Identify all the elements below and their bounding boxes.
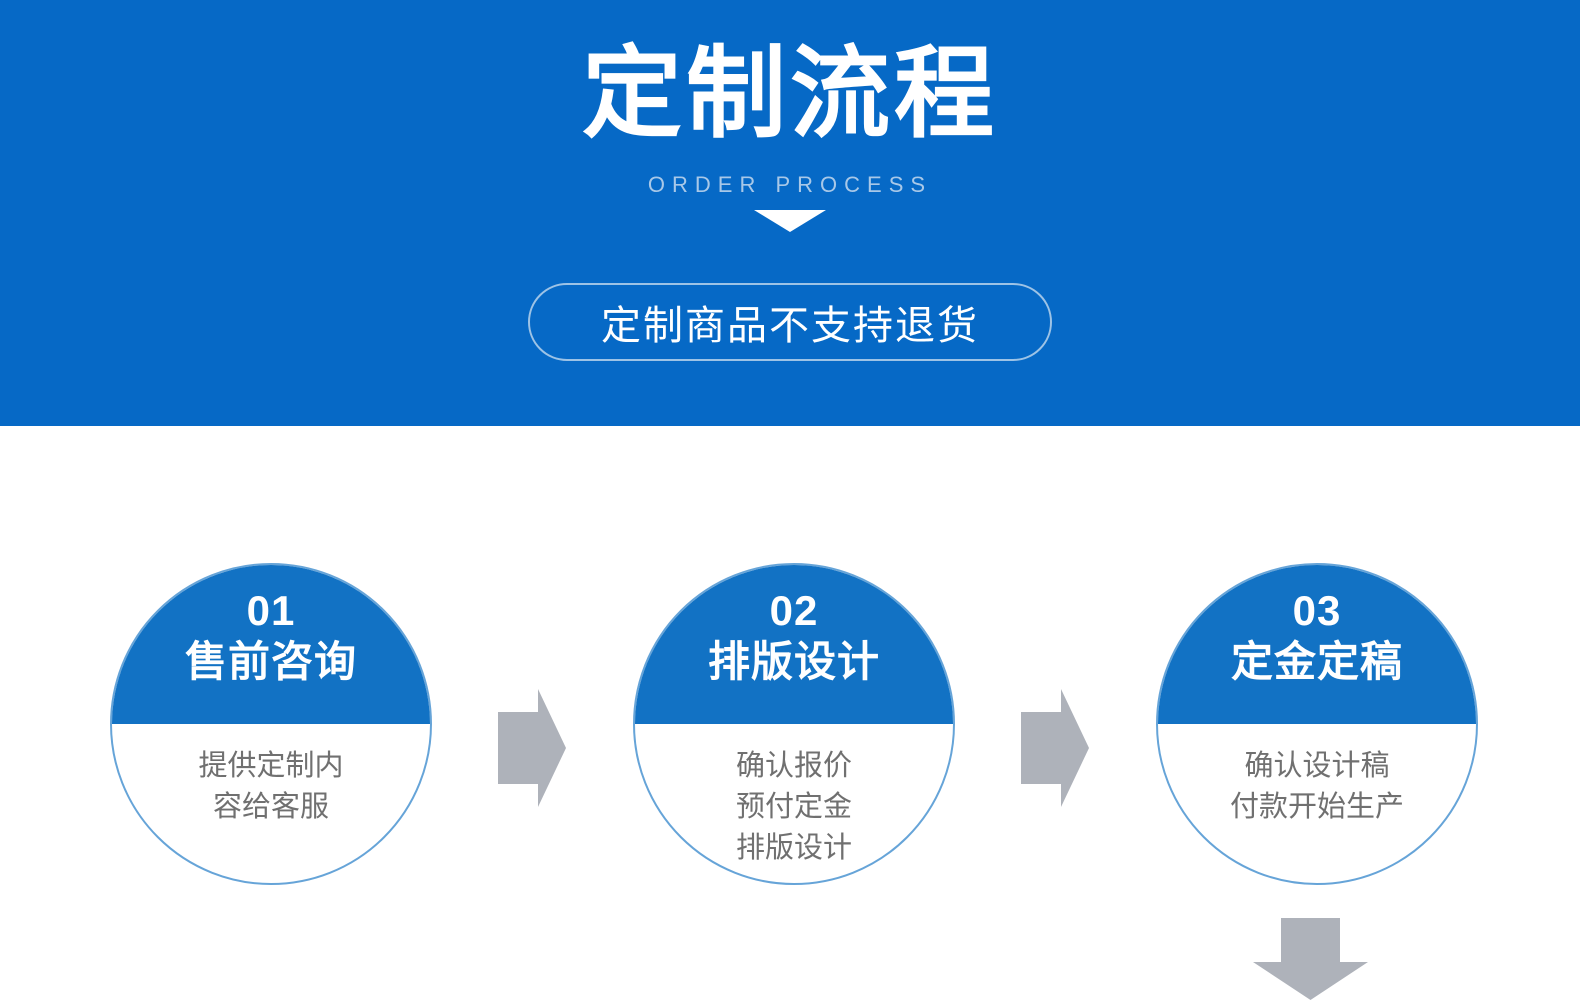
process-step-03-body: 确认设计稿 付款开始生产 <box>1158 724 1476 883</box>
process-step-02-number: 02 <box>770 590 819 632</box>
process-step-01-title: 售前咨询 <box>185 638 357 686</box>
arrow-right-icon <box>1021 689 1089 807</box>
page-title: 定制流程 <box>0 34 1580 154</box>
arrow-right-icon <box>498 689 566 807</box>
process-step-03-number: 03 <box>1293 590 1342 632</box>
process-step-01-number: 01 <box>247 590 296 632</box>
process-step-02-line-1: 确认报价 <box>736 746 852 787</box>
process-step-02-line-3: 排版设计 <box>736 828 852 869</box>
process-step-01-body: 提供定制内 容给客服 <box>112 724 430 883</box>
process-step-03: 03 定金定稿 确认设计稿 付款开始生产 <box>1156 563 1478 885</box>
header-band: 定制流程 ORDER PROCESS 定制商品不支持退货 <box>0 0 1580 426</box>
process-step-02-title: 排版设计 <box>708 638 880 686</box>
process-step-02-body: 确认报价 预付定金 排版设计 <box>635 724 953 883</box>
process-step-01: 01 售前咨询 提供定制内 容给客服 <box>110 563 432 885</box>
process-step-03-line-2: 付款开始生产 <box>1230 787 1404 828</box>
page-subtitle: ORDER PROCESS <box>0 172 1580 198</box>
process-steps: 01 售前咨询 提供定制内 容给客服 02 排版设计 确认报价 预付定金 排版 <box>0 426 1580 1000</box>
no-return-badge-label: 定制商品不支持退货 <box>601 293 979 351</box>
chevron-down-icon <box>754 210 826 232</box>
process-step-01-line-1: 提供定制内 <box>198 746 343 787</box>
process-step-03-line-1: 确认设计稿 <box>1244 746 1389 787</box>
arrow-down-icon <box>1253 918 1368 1000</box>
process-step-02-header: 02 排版设计 <box>635 565 953 724</box>
process-step-01-header: 01 售前咨询 <box>112 565 430 724</box>
process-step-03-header: 03 定金定稿 <box>1158 565 1476 724</box>
process-step-02: 02 排版设计 确认报价 预付定金 排版设计 <box>633 563 955 885</box>
process-step-01-line-2: 容给客服 <box>213 787 329 828</box>
process-step-02-line-2: 预付定金 <box>736 787 852 828</box>
no-return-badge: 定制商品不支持退货 <box>528 283 1052 361</box>
order-process-banner: 定制流程 ORDER PROCESS 定制商品不支持退货 01 售前咨询 提供定… <box>0 0 1580 1000</box>
process-step-03-title: 定金定稿 <box>1231 638 1403 686</box>
